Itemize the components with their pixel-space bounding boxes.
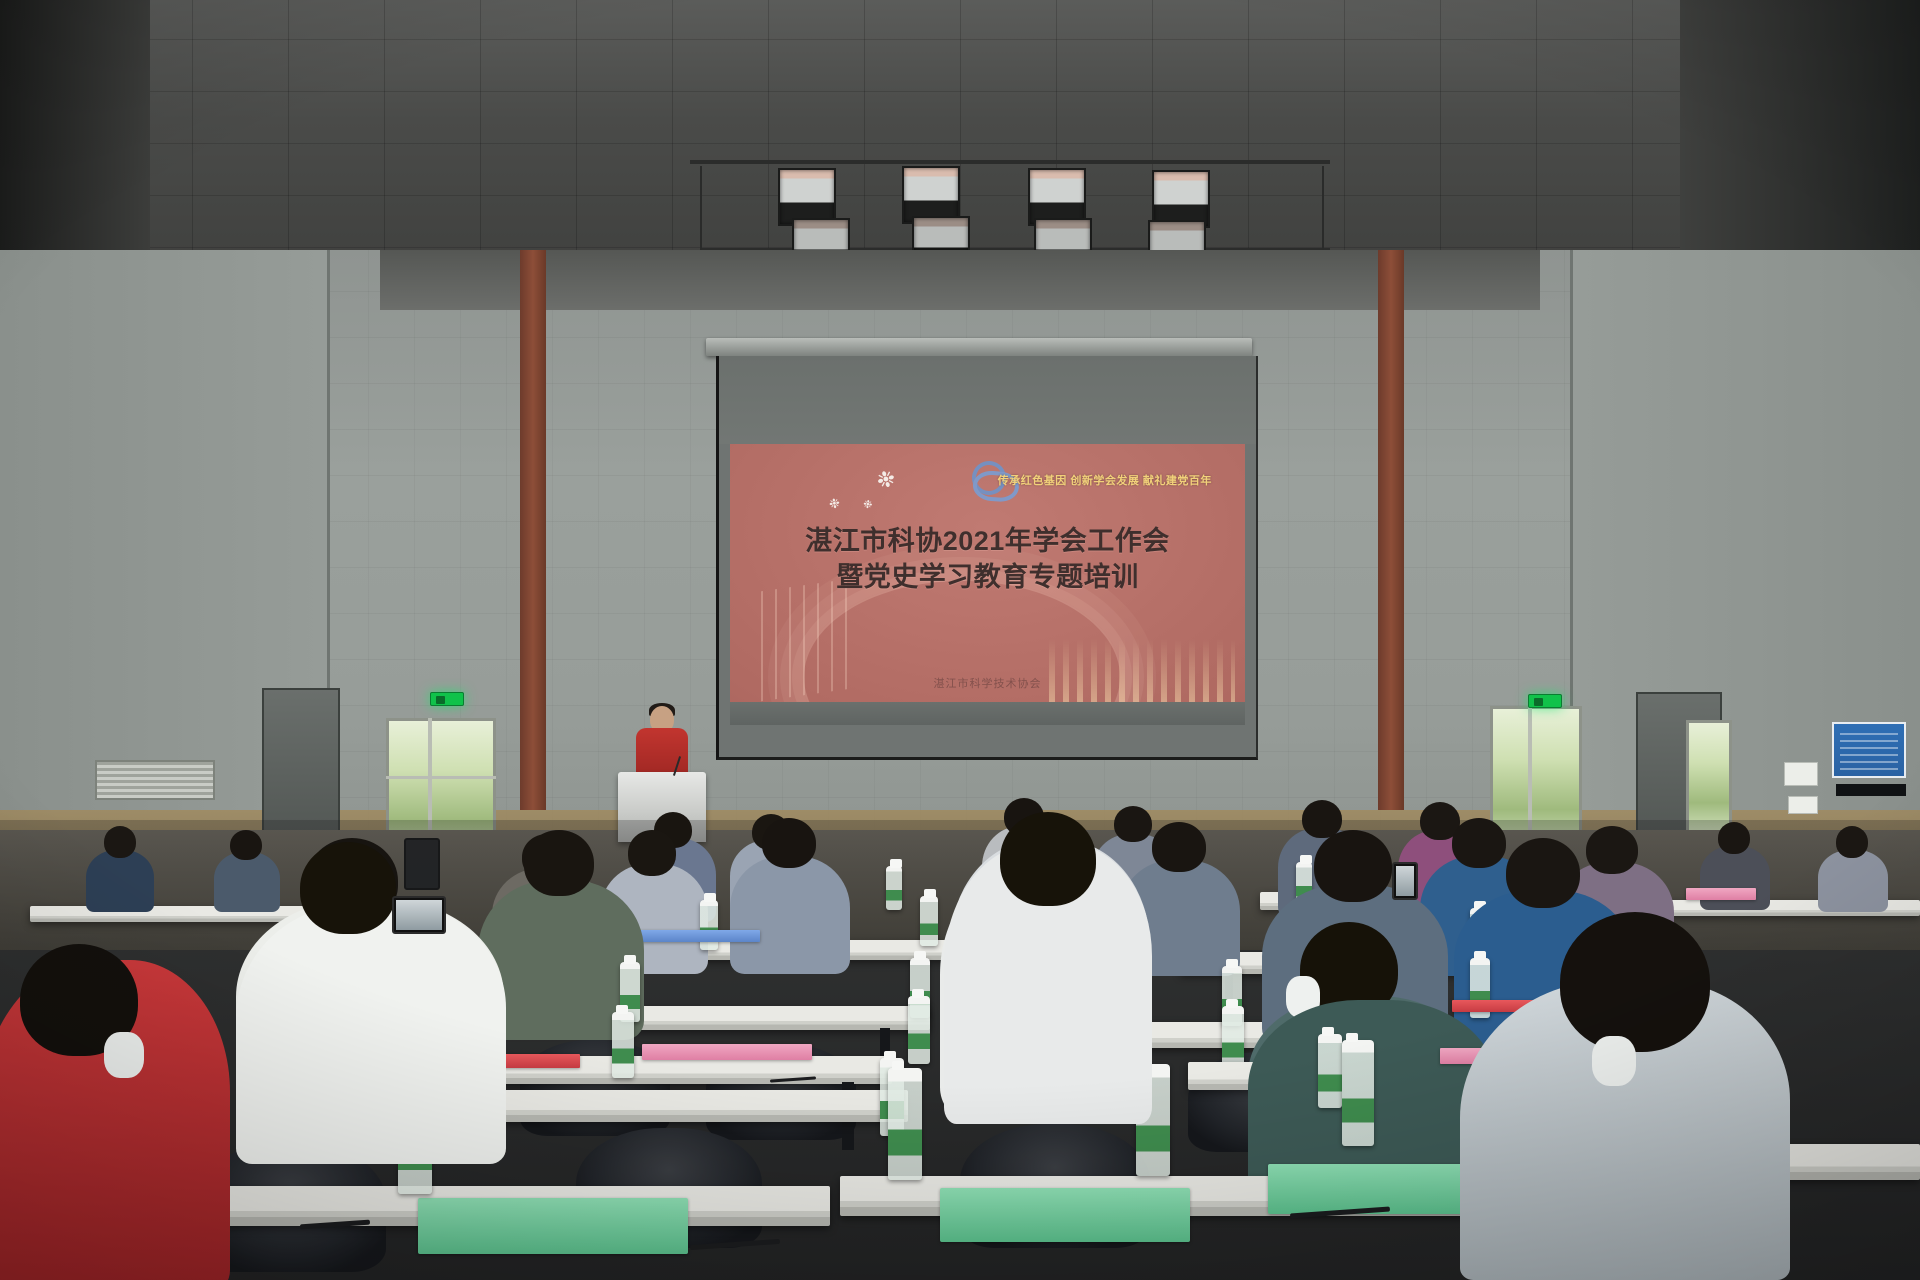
exit-sign-right	[1528, 694, 1562, 708]
water-bottle[interactable]	[908, 996, 930, 1064]
presentation-slide: ❉ ❉ ❉ 传承红色基因 创新学会发展 献礼建党百年 湛江市科协2021年学会工…	[730, 444, 1246, 725]
attendee-head	[1836, 826, 1868, 858]
water-bottle[interactable]	[612, 1012, 634, 1078]
water-bottle[interactable]	[920, 896, 938, 946]
attendee	[1818, 850, 1888, 912]
attendee-head	[1718, 822, 1750, 854]
water-bottle[interactable]	[886, 866, 902, 910]
attendee-head	[524, 830, 594, 896]
document-folder[interactable]	[1686, 888, 1756, 900]
stage-soffit	[380, 250, 1540, 310]
attendee-head	[300, 842, 396, 934]
attendee-head	[1114, 806, 1152, 842]
window-transom	[386, 776, 496, 779]
face-mask	[1592, 1036, 1636, 1086]
water-bottle[interactable]	[700, 900, 718, 950]
water-bottle[interactable]	[888, 1068, 922, 1180]
wall-small-plaque	[1788, 796, 1818, 814]
document-folder[interactable]	[418, 1198, 688, 1254]
attendee-head	[762, 818, 816, 868]
exit-sign-left	[430, 692, 464, 706]
brick-pillar-right	[1378, 250, 1404, 810]
lighting-truss-upper	[690, 160, 1330, 164]
water-bottle[interactable]	[1342, 1040, 1374, 1146]
document-folder[interactable]	[940, 1188, 1190, 1242]
air-conditioner-unit	[95, 760, 215, 800]
attendee-head	[1452, 818, 1506, 868]
slide-title: 湛江市科协2021年学会工作会 暨党史学习教育专题培训	[730, 523, 1246, 595]
slide-title-line-1: 湛江市科协2021年学会工作会	[805, 526, 1170, 556]
slide-tagline: 传承红色基因 创新学会发展 献礼建党百年	[998, 472, 1212, 488]
attendee	[86, 850, 154, 912]
smartphone[interactable]	[392, 896, 446, 934]
attendee-head	[1314, 830, 1392, 902]
attendee-head	[1560, 912, 1710, 1052]
projection-screen: ❉ ❉ ❉ 传承红色基因 创新学会发展 献礼建党百年 湛江市科协2021年学会工…	[716, 356, 1258, 760]
attendee	[730, 856, 850, 974]
attendee-head	[628, 830, 676, 876]
water-bottle[interactable]	[1318, 1034, 1342, 1108]
slide-title-line-2: 暨党史学习教育专题培训	[730, 559, 1246, 595]
attendee-head	[104, 826, 136, 858]
projection-screen-housing	[706, 338, 1252, 356]
wall-strip-label	[1836, 784, 1906, 796]
slide-lower-band	[730, 702, 1246, 724]
dove-icon: ❉	[862, 499, 873, 511]
attendee-head	[1152, 822, 1206, 872]
slide-decor-skyline	[1049, 627, 1235, 706]
brick-pillar-left	[520, 250, 546, 810]
wall-small-notice	[1784, 762, 1818, 786]
screen-blank-margin	[719, 356, 1256, 444]
attendee-head	[1000, 812, 1096, 906]
attendee-foreground-white-shirt	[236, 904, 506, 1164]
wall-notice-board	[1832, 722, 1906, 778]
rig-wire	[700, 166, 702, 250]
rig-wire	[1322, 166, 1324, 250]
attendee-head	[1586, 826, 1638, 874]
document-folder[interactable]	[640, 930, 760, 942]
conference-hall-photo: ❉ ❉ ❉ 传承红色基因 创新学会发展 献礼建党百年 湛江市科协2021年学会工…	[0, 0, 1920, 1280]
dove-icon: ❉	[874, 466, 898, 493]
document-folder[interactable]	[642, 1044, 812, 1060]
attendee	[1700, 846, 1770, 910]
slide-organization: 湛江市科学技术协会	[730, 675, 1246, 691]
attendee-head	[1506, 838, 1580, 908]
attendee-head	[230, 830, 262, 860]
attendee	[214, 852, 280, 912]
dove-icon: ❉	[827, 496, 840, 511]
poster-text-lines	[1840, 730, 1898, 770]
smartphone[interactable]	[1392, 862, 1418, 900]
face-mask	[104, 1032, 144, 1078]
slide-decor-doves: ❉ ❉ ❉	[823, 467, 943, 527]
